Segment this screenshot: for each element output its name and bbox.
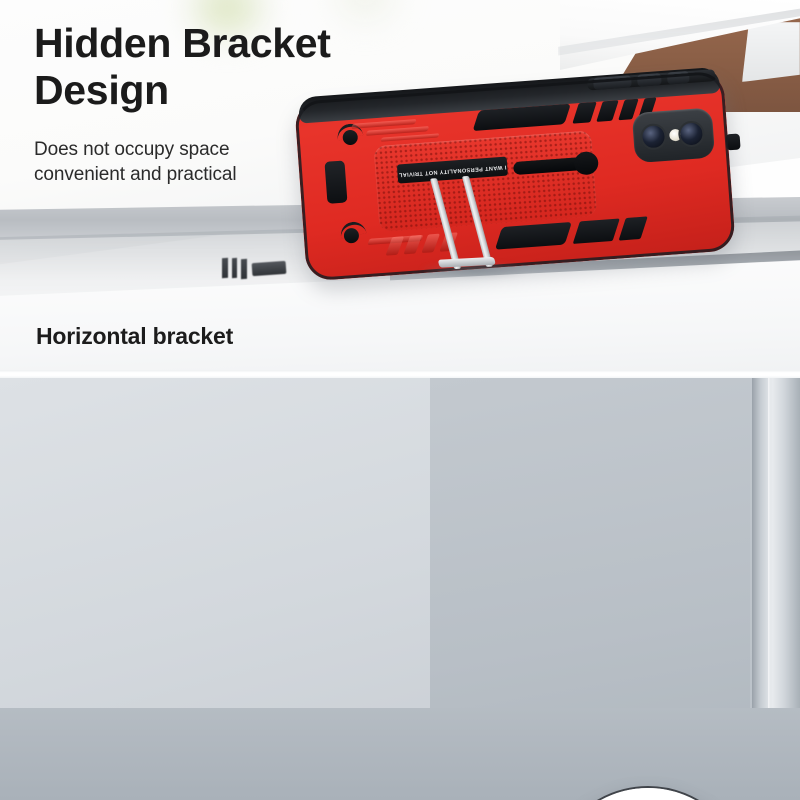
- angle-callout-circle: 90°: [548, 786, 748, 800]
- product-feature-page: I WANT PERSONALITY NOT TRIVIAL: [0, 0, 800, 800]
- floor: [0, 708, 800, 800]
- case-bumper-rim: [294, 70, 736, 281]
- desk-object: [222, 258, 228, 278]
- phone-case-horizontal: I WANT PERSONALITY NOT TRIVIAL: [294, 70, 736, 281]
- headline-line-1: Hidden Bracket: [34, 20, 331, 67]
- bokeh-blur-icon: [330, 0, 400, 20]
- page-title: Hidden Bracket Design: [34, 20, 331, 113]
- panel-divider: [0, 370, 800, 378]
- desk-object: [241, 259, 247, 279]
- label-vertical-bracket: Vertical bracket: [36, 796, 203, 800]
- callout-background: [550, 788, 746, 800]
- page-subtitle: Does not occupy space convenient and pra…: [34, 137, 237, 188]
- paper-sheet: [742, 22, 800, 82]
- panel-vertical-bracket: Vertical bracket: [0, 378, 800, 800]
- desk-object: [232, 258, 237, 278]
- label-horizontal-bracket: Horizontal bracket: [36, 323, 233, 350]
- desk-object: [252, 261, 287, 276]
- subtitle-line-2: convenient and practical: [34, 162, 237, 187]
- kickstand-leg: [462, 176, 493, 267]
- panel-horizontal-bracket: I WANT PERSONALITY NOT TRIVIAL: [0, 0, 800, 372]
- headline-line-2: Design: [34, 67, 331, 114]
- kickstand-horizontal: [437, 174, 501, 270]
- subtitle-line-1: Does not occupy space: [34, 137, 237, 162]
